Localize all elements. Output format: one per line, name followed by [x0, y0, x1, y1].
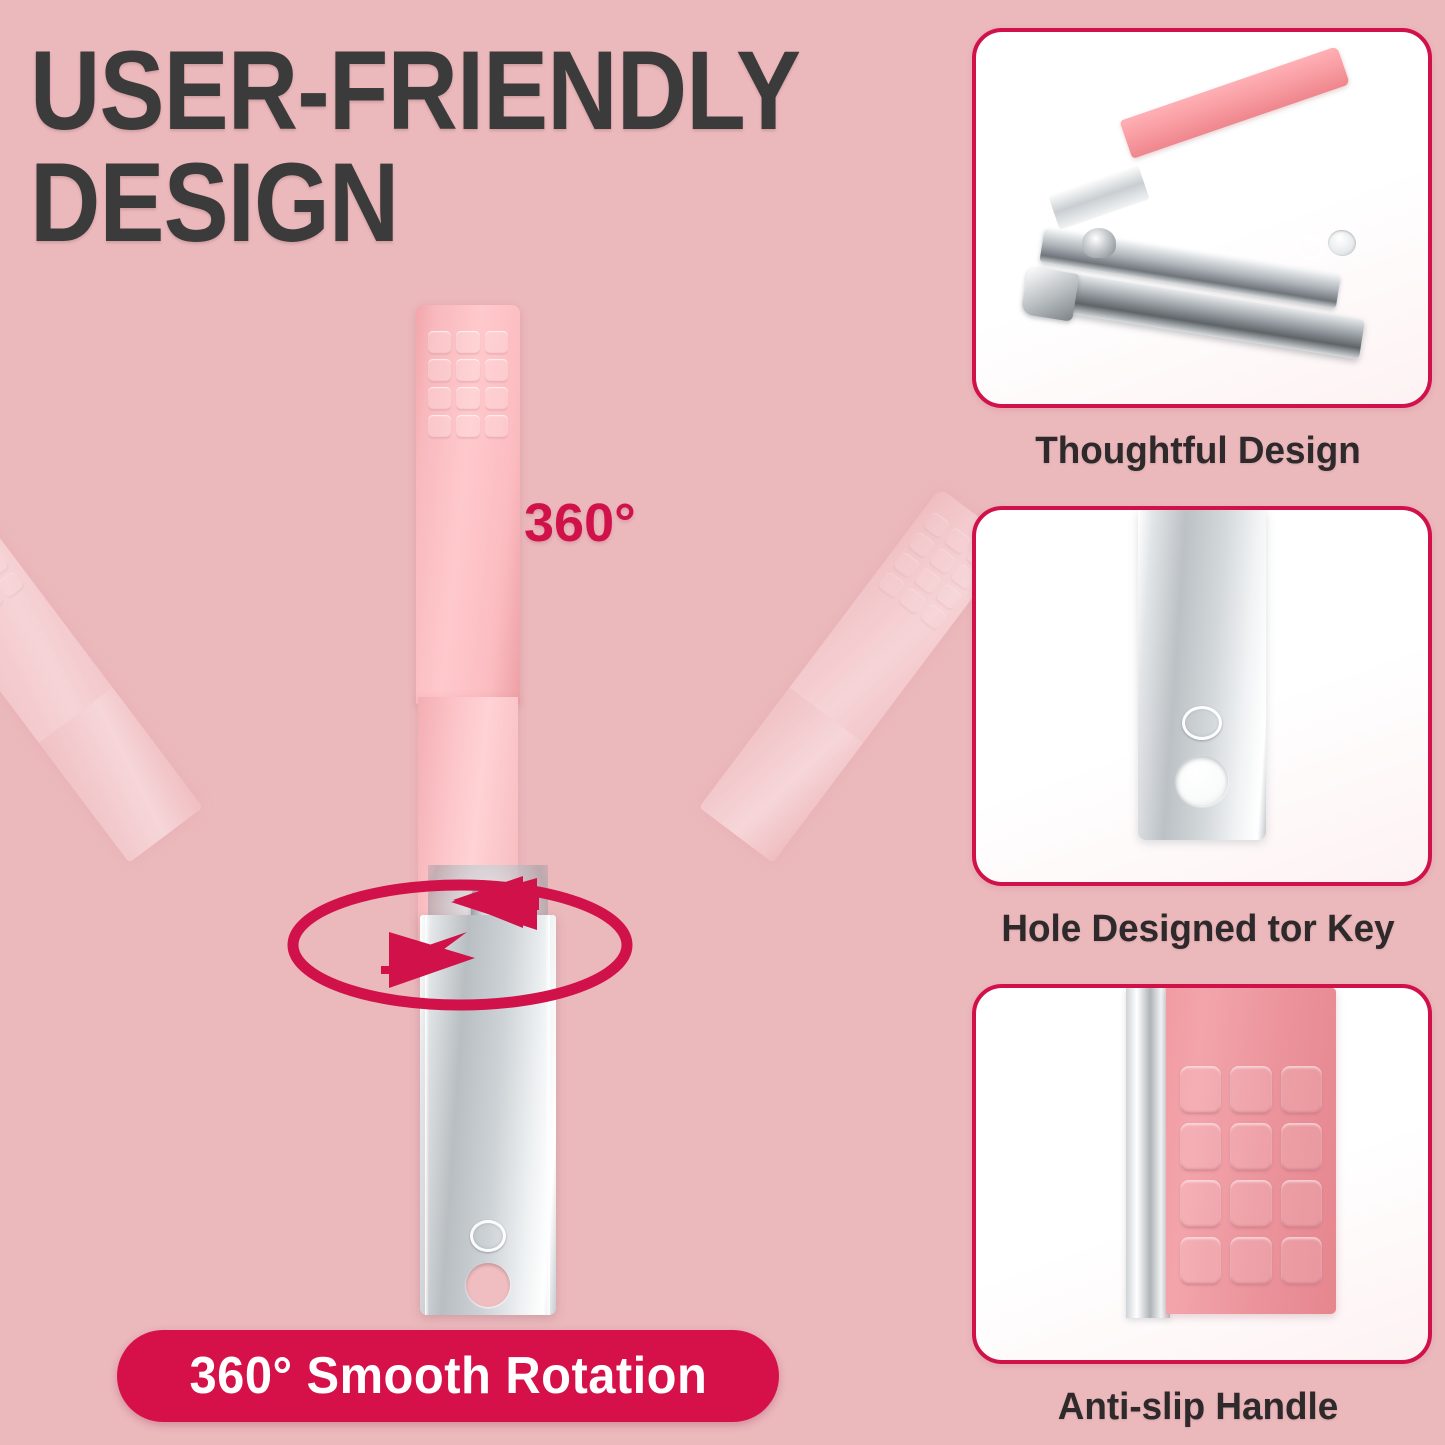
clipper-cutting-tip — [1021, 266, 1080, 322]
chrome-bar — [1138, 510, 1266, 840]
hero-illustration — [0, 250, 940, 1330]
badge-label: 360° Smooth Rotation — [189, 1346, 707, 1406]
nail-clipper-open-photo — [976, 32, 1428, 404]
grip-pad-grid — [428, 331, 508, 438]
panel-caption-thoughtful-design: Thoughtful Design — [979, 430, 1417, 473]
clipper-hinge — [1082, 228, 1116, 258]
key-ring-hole — [1176, 756, 1228, 806]
key-ring-hole — [1326, 228, 1358, 258]
brand-logo-emboss-icon — [1294, 234, 1325, 262]
pink-handle-lever — [416, 305, 520, 705]
grip-pad-grid — [0, 511, 25, 631]
feature-panel-thoughtful-design — [972, 28, 1432, 408]
smooth-rotation-badge: 360° Smooth Rotation — [117, 1330, 779, 1422]
feature-panel-key-hole — [972, 506, 1432, 886]
ghost-handle-right — [699, 488, 1013, 863]
ghost-handle-neck — [699, 688, 863, 863]
chrome-edge — [1126, 988, 1170, 1318]
rotation-ellipse-icon — [285, 870, 635, 1020]
panel-caption-anti-slip: Anti-slip Handle — [979, 1386, 1417, 1429]
page-title: USER-FRIENDLY DESIGN — [30, 35, 813, 259]
brand-logo-emboss-icon — [470, 1220, 506, 1252]
lever-metal-section — [1048, 165, 1150, 230]
infographic-canvas: USER-FRIENDLY DESIGN — [0, 0, 1445, 1445]
feature-panel-anti-slip — [972, 984, 1432, 1364]
nail-clipper-main — [398, 305, 568, 1315]
ghost-handle-neck — [39, 688, 203, 863]
panel-caption-key-hole: Hole Designed tor Key — [979, 908, 1417, 951]
key-ring-hole — [466, 1263, 510, 1307]
grip-pad-grid — [1180, 1066, 1322, 1285]
anti-slip-grip — [1166, 988, 1336, 1314]
pink-lever — [1119, 46, 1349, 159]
brand-logo-emboss-icon — [1182, 706, 1222, 740]
ghost-handle-left — [0, 488, 203, 863]
rotation-degree-label: 360° — [524, 492, 636, 554]
